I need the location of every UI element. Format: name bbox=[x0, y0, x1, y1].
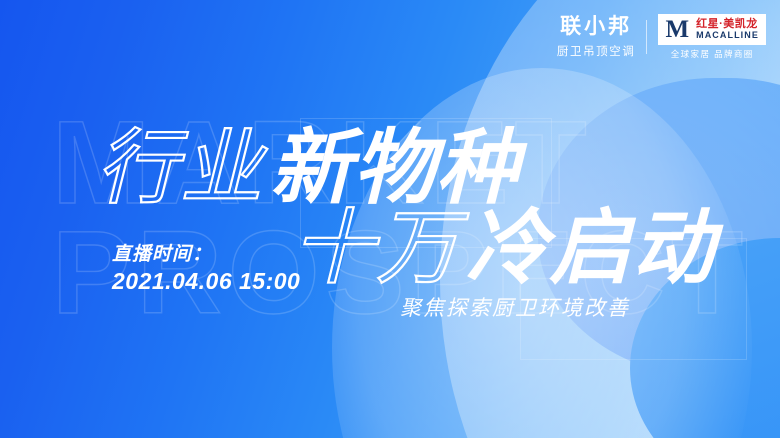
decorative-outline-box-1 bbox=[300, 118, 552, 248]
live-time-value: 2021.04.06 15:00 bbox=[112, 267, 300, 296]
partner-name-cn: 红星·美凯龙 bbox=[696, 18, 759, 30]
decorative-blue-blob-lower bbox=[630, 238, 780, 438]
headline-group: 行业 新物种 十万 冷启动 bbox=[0, 0, 780, 438]
watermark-text-market: MARKET bbox=[52, 104, 593, 222]
headline-line-2: 十万 冷启动 bbox=[292, 208, 715, 290]
brand-logo: 联小邦 厨卫吊顶空调 bbox=[557, 15, 636, 58]
brand-name: 联小邦 bbox=[557, 15, 636, 39]
subtitle-text: 聚焦探索厨卫环境改善 bbox=[400, 292, 630, 322]
decorative-blue-blob bbox=[538, 78, 780, 378]
headline-line-2-solid: 冷启动 bbox=[466, 208, 715, 290]
live-time-label: 直播时间： bbox=[112, 243, 300, 267]
headline-line-2-outline: 十万 bbox=[292, 208, 460, 290]
decorative-light-curve-bottom bbox=[332, 68, 752, 438]
decorative-light-curve-top bbox=[440, 0, 780, 438]
logo-lockup: 联小邦 厨卫吊顶空调 M 红星·美凯龙 MACALLINE 全球家居 品牌商圈 bbox=[557, 14, 766, 60]
partner-tagline: 全球家居 品牌商圈 bbox=[658, 48, 766, 60]
headline-line-1: 行业 新物种 bbox=[96, 128, 519, 210]
brand-subtitle: 厨卫吊顶空调 bbox=[557, 43, 636, 59]
partner-monogram-icon: M bbox=[663, 17, 691, 42]
partner-logo-text: 红星·美凯龙 MACALLINE bbox=[696, 18, 759, 41]
logo-divider bbox=[646, 20, 647, 54]
partner-logo-box: M 红星·美凯龙 MACALLINE bbox=[658, 14, 766, 45]
headline-line-1-outline: 行业 bbox=[96, 128, 264, 210]
headline-line-1-solid: 新物种 bbox=[270, 128, 519, 210]
partner-name-en: MACALLINE bbox=[696, 31, 759, 41]
promo-banner: MARKET PROSPECT 联小邦 厨卫吊顶空调 M 红星·美凯龙 MACA… bbox=[0, 0, 780, 438]
partner-logo: M 红星·美凯龙 MACALLINE 全球家居 品牌商圈 bbox=[658, 14, 766, 60]
live-time-block: 直播时间： 2021.04.06 15:00 bbox=[112, 243, 300, 297]
